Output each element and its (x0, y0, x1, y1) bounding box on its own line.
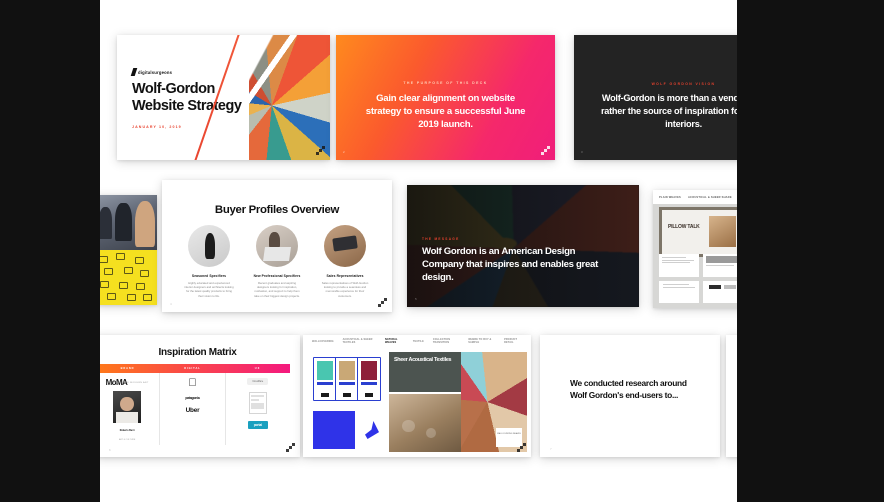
wireframe-icon (249, 392, 267, 414)
matrix-column-header: UX (225, 364, 290, 373)
slide-page-number: 3 (581, 150, 583, 154)
app-background: digitalsurgeons Wolf-Gordon Website Stra… (0, 0, 884, 502)
nav-item-active[interactable]: NATURAL WEAVES (385, 338, 404, 344)
matrix-cell-caption: Roberto Burri (120, 430, 135, 432)
slide-page-number: 7 (550, 447, 552, 451)
grid-cell (703, 281, 737, 304)
nav-item[interactable]: ACOUSTICAL & SHEER SHADE (688, 196, 732, 199)
nav-item[interactable]: TEXTILE (413, 340, 424, 343)
portal-logo: portal (248, 421, 268, 429)
slide-photo-strip[interactable] (100, 195, 157, 305)
nav-item[interactable]: PRODUCT DETAIL (504, 338, 522, 344)
nav-item[interactable]: WALLCOVERING (312, 340, 334, 343)
slide-title[interactable]: digitalsurgeons Wolf-Gordon Website Stra… (117, 35, 330, 160)
cloudflare-logo: Cloudflare (247, 378, 268, 385)
profile-card: Sales Representatives Sales representati… (316, 225, 374, 298)
title-line-1: Wolf-Gordon (132, 81, 241, 98)
profile-card: Seasoned Specifiers Highly educated and … (180, 225, 238, 298)
slide-page-number: 5 (415, 297, 417, 301)
profile-description: Sales representatives of Wolf-Gordon loo… (316, 281, 374, 298)
nav-item[interactable]: ACOUSTICAL & SHEER TEXTILES (343, 338, 376, 344)
grid-cell (703, 254, 737, 277)
resize-handle-icon[interactable] (378, 298, 387, 307)
slide-purpose[interactable]: THE PURPOSE OF THIS DECK Gain clear alig… (336, 35, 555, 160)
matrix-column-headers: BRAND DIGITAL UX (100, 364, 290, 373)
purpose-body: Gain clear alignment on website strategy… (358, 92, 533, 132)
logo: digitalsurgeons (132, 68, 172, 76)
moodboard-collage: Sheer Acoustical Textiles WALLCOVERING W… (389, 352, 527, 452)
slide-research-statement[interactable]: We conducted research around Wolf Gordon… (540, 335, 720, 457)
vision-kicker: WOLF GORDON VISION (574, 82, 737, 86)
slide-slate-reference[interactable]: PLAIN WEAVES ACOUSTICAL & SHEER SHADE NA… (653, 190, 737, 308)
message-body: Wolf Gordon is an American Design Compan… (422, 246, 599, 285)
reference-hero: PILLOW TALK (659, 207, 737, 257)
grid-cell (659, 281, 699, 304)
slide-page-number: 2 (343, 150, 345, 154)
profile-avatar (324, 225, 366, 267)
cloudflare-label: Cloudflare (252, 380, 263, 383)
matrix-column-header: DIGITAL (160, 364, 225, 373)
logo-text: digitalsurgeons (138, 70, 172, 75)
profile-avatar (188, 225, 230, 267)
hero-title: PILLOW TALK (668, 224, 700, 230)
slide-research-goals[interactable]: 01 — Clearly define, establish, gain ali… (726, 335, 737, 457)
reference-nav: PLAIN WEAVES ACOUSTICAL & SHEER SHADE NA… (653, 190, 737, 204)
slide-buyer-profiles[interactable]: Buyer Profiles Overview Seasoned Specifi… (162, 180, 392, 312)
profile-name: Seasoned Specifiers (180, 274, 238, 278)
matrix-heading: Inspiration Matrix (100, 347, 300, 358)
title-text-panel: digitalsurgeons Wolf-Gordon Website Stra… (117, 35, 249, 160)
slide-message[interactable]: THE MESSAGE Wolf Gordon is an American D… (407, 185, 639, 307)
swoosh-shape-icon (365, 421, 379, 439)
matrix-column-header: BRAND (100, 364, 160, 373)
research-statement-body: We conducted research around Wolf Gordon… (570, 377, 702, 401)
resize-handle-icon[interactable] (517, 443, 526, 452)
moodboard-nav: WALLCOVERING ACOUSTICAL & SHEER TEXTILES… (303, 335, 531, 347)
slide-page-number: 6 (109, 448, 111, 452)
grid-cell (659, 254, 699, 277)
purpose-kicker: THE PURPOSE OF THIS DECK (336, 81, 555, 85)
profile-description: Highly educated and experienced interior… (180, 281, 238, 298)
slide-inspiration-matrix[interactable]: Inspiration Matrix BRAND DIGITAL UX MoMA… (100, 335, 300, 457)
logo-mark-icon (131, 68, 138, 76)
nav-item[interactable]: PLAIN WEAVES (659, 196, 681, 199)
profile-card: New Professional Specifiers Recent gradu… (248, 225, 306, 298)
message-kicker: THE MESSAGE (422, 237, 460, 241)
resize-handle-icon[interactable] (286, 443, 295, 452)
title-line-2: Website Strategy (132, 98, 241, 115)
buyer-profiles-heading: Buyer Profiles Overview (162, 204, 392, 216)
collage-wood-tile (389, 394, 461, 452)
resize-handle-icon[interactable] (541, 146, 550, 155)
page-title: Wolf-Gordon Website Strategy (132, 81, 241, 115)
profile-name: New Professional Specifiers (248, 274, 306, 278)
patagonia-logo: patagonia (185, 396, 199, 400)
profile-name: Sales Representatives (316, 274, 374, 278)
slide-page-number: 4 (170, 302, 172, 306)
yellow-doodle-photo (100, 250, 157, 305)
blue-color-block (313, 411, 355, 449)
collage-title-tile: Sheer Acoustical Textiles (389, 352, 461, 392)
deck-canvas: digitalsurgeons Wolf-Gordon Website Stra… (100, 0, 737, 502)
nav-item[interactable]: COLLECTION TRANSITION (433, 338, 459, 344)
profile-description: Recent graduates and aspiring designers … (248, 281, 306, 298)
resize-handle-icon[interactable] (316, 146, 325, 155)
collage-title: Sheer Acoustical Textiles (394, 358, 451, 364)
moma-sublabel: THE MUSEUM OF MODERN ART (106, 382, 149, 384)
title-date: JANUARY 10, 2019 (132, 125, 182, 129)
portrait-image (113, 391, 141, 423)
slide-vision[interactable]: WOLF GORDON VISION Wolf-Gordon is more t… (574, 35, 737, 160)
uber-logo: Uber (186, 407, 200, 414)
reference-thumbnail-grid (659, 254, 737, 303)
nav-item[interactable]: WHERE TO BUY & SAMPLE (468, 338, 495, 344)
binder-illustration (313, 357, 383, 401)
matrix-column-brand: MoMA THE MUSEUM OF MODERN ART Roberto Bu… (100, 373, 160, 445)
matrix-column-digital:  patagonia Uber (160, 373, 225, 445)
slide-moodboard[interactable]: WALLCOVERING ACOUSTICAL & SHEER TEXTILES… (303, 335, 531, 457)
matrix-cell-caption: ART & CULTURE (119, 439, 135, 441)
vision-body: Wolf-Gordon is more than a vendor, but r… (592, 92, 737, 131)
profile-avatar (256, 225, 298, 267)
apple-logo-icon:  (188, 378, 196, 389)
workshop-photo (100, 195, 157, 250)
matrix-column-ux: Cloudflare portal (226, 373, 290, 445)
